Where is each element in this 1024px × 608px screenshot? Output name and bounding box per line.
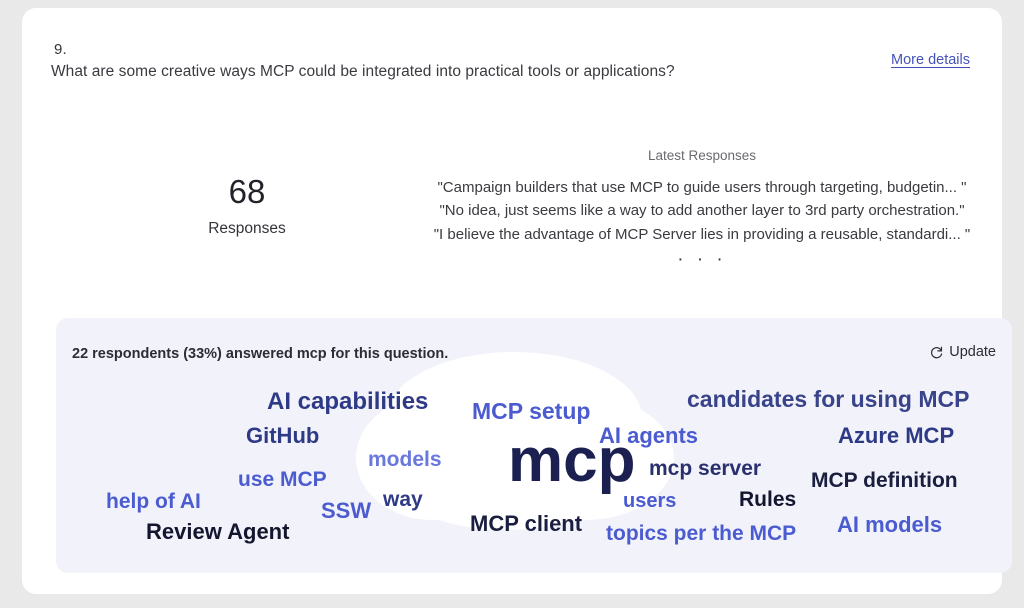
word-cloud-word[interactable]: models [368, 449, 442, 470]
question-text: What are some creative ways MCP could be… [51, 63, 675, 81]
latest-response-item: "No idea, just seems like a way to add a… [392, 199, 1012, 222]
word-cloud-word[interactable]: topics per the MCP [606, 523, 796, 544]
word-cloud-words: mcpMCP setupcandidates for using MCPAI c… [56, 318, 1012, 573]
latest-responses-ellipsis: · · · [392, 249, 1012, 271]
responses-count-label: Responses [152, 220, 342, 238]
word-cloud-word[interactable]: MCP setup [472, 400, 590, 423]
question-card: 9. What are some creative ways MCP could… [22, 8, 1002, 594]
page-root: 9. What are some creative ways MCP could… [0, 0, 1024, 608]
word-cloud-word[interactable]: MCP definition [811, 470, 958, 491]
question-number: 9. [54, 41, 67, 58]
latest-response-item: "Campaign builders that use MCP to guide… [392, 176, 1012, 199]
word-cloud-word[interactable]: GitHub [246, 425, 319, 447]
word-cloud-word[interactable]: use MCP [238, 469, 327, 490]
responses-count: 68 [152, 173, 342, 211]
latest-responses: Latest Responses "Campaign builders that… [392, 148, 1012, 271]
more-details-link[interactable]: More details [891, 52, 970, 68]
word-cloud-word[interactable]: help of AI [106, 491, 201, 512]
latest-responses-title: Latest Responses [392, 148, 1012, 163]
word-cloud-word[interactable]: Azure MCP [838, 425, 954, 447]
latest-response-item: "I believe the advantage of MCP Server l… [392, 223, 1012, 246]
word-cloud-word[interactable]: AI capabilities [267, 390, 428, 414]
word-cloud-word[interactable]: SSW [321, 500, 371, 522]
word-cloud-word[interactable]: AI models [837, 514, 942, 536]
word-cloud-word[interactable]: AI agents [599, 425, 698, 447]
word-cloud-word[interactable]: candidates for using MCP [687, 388, 969, 411]
word-cloud-word[interactable]: users [623, 491, 676, 511]
word-cloud-word[interactable]: way [383, 489, 423, 510]
word-cloud-word[interactable]: Rules [739, 489, 796, 510]
word-cloud-word[interactable]: MCP client [470, 513, 582, 535]
responses-summary: 68 Responses [152, 173, 342, 238]
word-cloud-panel: 22 respondents (33%) answered mcp for th… [56, 318, 1012, 573]
word-cloud-word[interactable]: Review Agent [146, 521, 289, 543]
word-cloud-word[interactable]: mcp server [649, 458, 761, 479]
